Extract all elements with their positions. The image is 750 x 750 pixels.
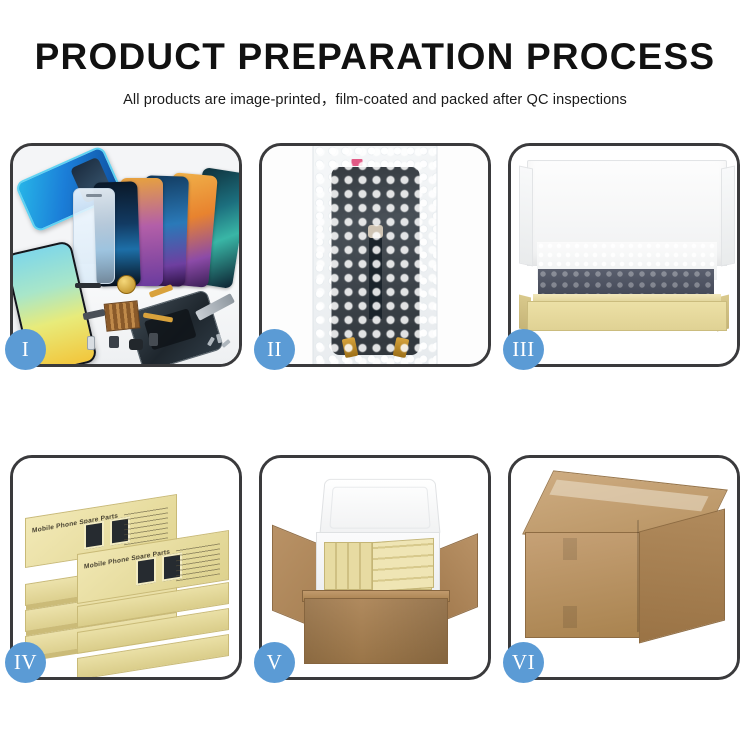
screen-connector-icon	[368, 225, 383, 238]
qc-sticker-icon	[351, 159, 362, 166]
step-image-6	[511, 458, 737, 677]
header: PRODUCT PREPARATION PROCESS All products…	[0, 0, 750, 109]
chip-grid-icon	[104, 300, 141, 331]
small-part-bar-icon	[75, 283, 101, 288]
step-badge-5: V	[254, 642, 295, 683]
foam-lid	[319, 479, 441, 538]
step-badge-2: II	[254, 329, 295, 370]
yellow-boxes-stack	[372, 538, 434, 592]
speaker-coil-icon	[117, 275, 136, 294]
step-image-5	[262, 458, 488, 677]
step-badge-6: VI	[503, 642, 544, 683]
box-window-left-icon	[136, 557, 156, 586]
step-image-2	[262, 146, 488, 364]
step-panel-1: I	[10, 143, 242, 367]
step-panel-5: V	[259, 455, 491, 680]
carton-body	[304, 598, 448, 664]
page-title: PRODUCT PREPARATION PROCESS	[0, 36, 750, 78]
step-image-3	[511, 146, 737, 364]
step-panel-4: Mobile Phone Spare Parts Mobile Phone Sp…	[10, 455, 242, 680]
box-window-left-icon	[84, 521, 104, 550]
step-badge-1: I	[5, 329, 46, 370]
screen-flex-cable-icon	[369, 233, 382, 319]
small-part-module-icon	[149, 333, 158, 346]
retail-box-stack: Mobile Phone Spare Parts Mobile Phone Sp…	[21, 476, 237, 662]
step-badge-3: III	[503, 329, 544, 370]
small-part-button-icon	[129, 339, 143, 350]
sim-tray-icon	[87, 336, 95, 350]
step-image-1	[13, 146, 239, 364]
carton-corner-edge	[637, 520, 639, 633]
retail-box-label: Mobile Phone Spare Parts	[84, 549, 170, 571]
small-part-cap-icon	[109, 336, 119, 348]
step-panel-6: VI	[508, 455, 740, 680]
product-preparation-infographic: PRODUCT PREPARATION PROCESS All products…	[0, 0, 750, 750]
step-image-4: Mobile Phone Spare Parts Mobile Phone Sp…	[13, 458, 239, 677]
screws-icon	[209, 334, 231, 350]
inner-box-front	[527, 301, 727, 331]
carton-seam-lower	[563, 606, 577, 628]
shipping-carton-side	[639, 508, 725, 643]
steps-grid: I II	[10, 143, 740, 680]
tempered-glass-icon	[73, 188, 115, 284]
step-panel-3: III	[508, 143, 740, 367]
shipping-carton-front	[525, 532, 641, 638]
phone-fan-group	[71, 154, 239, 286]
retail-box-label: Mobile Phone Spare Parts	[32, 513, 118, 535]
bubble-wrap-bag	[313, 146, 438, 364]
step-badge-4: IV	[5, 642, 46, 683]
carton-seam-upper	[563, 538, 577, 560]
step-panel-2: II	[259, 143, 491, 367]
box-spec-text-lines	[124, 506, 168, 545]
page-subtitle: All products are image-printed，film-coat…	[0, 88, 750, 109]
box-spec-text-lines	[176, 542, 220, 581]
